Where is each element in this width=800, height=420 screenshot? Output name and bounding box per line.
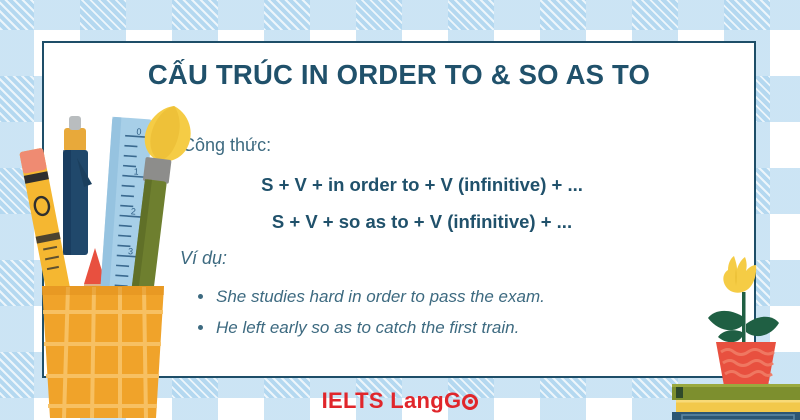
svg-text:1: 1 <box>133 166 139 176</box>
brand-name: IELTS LangG <box>322 390 462 412</box>
svg-text:2: 2 <box>131 206 137 216</box>
infographic-canvas: CẤU TRÚC IN ORDER TO & SO AS TO Công thứ… <box>0 0 800 420</box>
pen-icon <box>63 116 92 255</box>
tulip-flower-icon <box>723 256 756 293</box>
flower-pot-icon <box>716 342 776 386</box>
stem-icon <box>742 292 746 344</box>
brand-logo: IELTS LangG <box>0 390 800 412</box>
target-ring-icon <box>462 394 478 410</box>
svg-text:0: 0 <box>136 126 142 136</box>
svg-text:3: 3 <box>128 246 134 256</box>
pencil-cup-illustration: 0 1 2 3 4 <box>6 88 206 418</box>
